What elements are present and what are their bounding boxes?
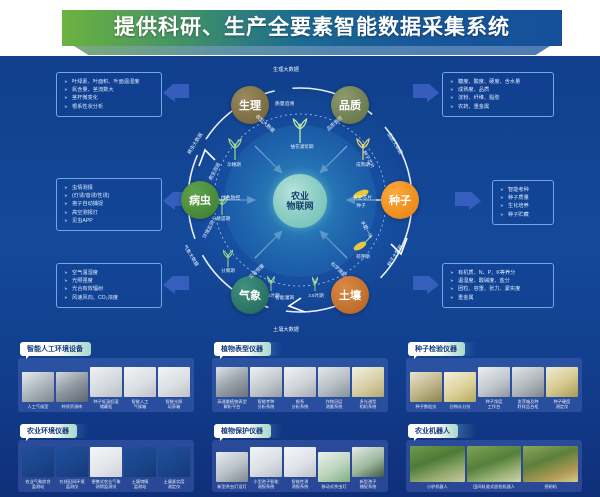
product-thumb — [56, 372, 88, 402]
stage-label-fayaqi: 萌芽期 — [345, 254, 381, 260]
plant-icon-fennie — [217, 244, 239, 268]
panel-item[interactable]: 授粉机 — [522, 446, 579, 489]
product-label: 人工气候室 — [22, 404, 54, 409]
product-thumb — [250, 367, 282, 397]
product-thumb — [467, 446, 522, 482]
infobox-item: 孢子自动捕捉 — [64, 200, 156, 208]
product-label: 多光谱型 相机系统 — [352, 399, 384, 409]
product-label: 授粉机 — [523, 484, 578, 489]
product-label: 智能性诱 测报系统 — [284, 479, 316, 489]
plant-icon-yangsui — [223, 136, 247, 160]
panel-item[interactable]: 种质资源库 — [55, 372, 89, 409]
infobox-item: 光合有效辐射 — [64, 285, 156, 293]
product-thumb — [56, 447, 88, 477]
stage-label-zhongzi: 种子 — [345, 203, 377, 209]
arrow-right-seed — [455, 192, 481, 210]
node-label: 生理 — [239, 97, 261, 113]
panel-item[interactable]: 根系 分析系统 — [283, 367, 317, 409]
inner-label-green-control: 绿色防控 — [221, 194, 240, 201]
panel-agri-robot: 农业机器人 小驴机器人 田间轨道式巡检机器人 授粉机 — [400, 424, 588, 494]
infobox-item: 种子贮藏 — [500, 211, 548, 219]
product-label: 种子净度 工作台 — [478, 399, 510, 409]
inner-label-smart-irrigation: 智能灌溉 — [275, 294, 294, 301]
product-label: 发芽箱及种 籽样品台柜 — [512, 399, 544, 409]
core-label: 农业物联网 — [286, 191, 313, 211]
product-label: 种子数粒仪 — [410, 404, 442, 409]
product-label: 移动式杀虫灯 — [318, 484, 350, 489]
product-label: 高通量植物表型 解析平台 — [216, 399, 248, 409]
node-zhongzi[interactable]: 种子 — [381, 181, 419, 219]
product-label: 土壤墒情 监测站 — [124, 479, 156, 489]
product-label: 小驴机器人 — [410, 484, 465, 489]
product-thumb — [284, 367, 316, 397]
panel-item[interactable]: 高通量植物表型 解析平台 — [215, 367, 249, 409]
product-label: 新型孢子 捕捉系统 — [352, 479, 384, 489]
product-label: 种子低温低湿 储藏柜 — [90, 399, 122, 409]
panel-item[interactable]: 土壤紧实度 测定仪 — [157, 447, 191, 489]
product-thumb — [90, 367, 122, 397]
infobox-item: 茎杆微变化 — [64, 94, 156, 102]
panel-item[interactable]: 种子净度 工作台 — [477, 367, 511, 409]
infobox-item: 生化培养 — [500, 202, 548, 210]
product-thumb — [352, 447, 384, 477]
product-thumb — [124, 447, 156, 477]
product-label: 智能光照 培养箱 — [158, 399, 190, 409]
panel-item[interactable]: 田间轨道式巡检机器人 — [466, 446, 523, 489]
panel-item[interactable]: 智能光照 培养箱 — [157, 367, 191, 409]
product-thumb — [546, 367, 578, 397]
infobox-item: 空气温湿度 — [64, 269, 156, 277]
node-label: 土壤 — [339, 287, 361, 303]
panel-item[interactable]: 种子低温低湿 储藏柜 — [89, 367, 123, 409]
infobox-item: 氮含量、茎流数大 — [64, 86, 156, 94]
product-thumb — [216, 367, 248, 397]
infobox-item: 虫情测报 — [64, 184, 156, 192]
node-label: 种子 — [389, 192, 411, 208]
infobox-item: 有机质、N、P、K等养分 — [450, 269, 548, 277]
product-thumb — [158, 367, 190, 397]
panel-item[interactable]: 移动式杀虫灯 — [317, 452, 351, 489]
panel-item[interactable]: 小驴机器人 — [409, 446, 466, 489]
panel-title-plant-phenotype: 植物表型仪器 — [214, 342, 271, 356]
node-bingchong[interactable]: 病虫 — [181, 181, 219, 219]
node-label: 品质 — [339, 97, 361, 113]
product-thumb — [410, 446, 465, 482]
product-label: 小型孢子智能 测报系统 — [250, 479, 282, 489]
infobox-item: 高空测报灯 — [64, 209, 156, 217]
panel-title-seed-inspection: 种子检验仪器 — [408, 342, 465, 356]
product-label: 在线田间环境 监测仪 — [56, 479, 88, 489]
panel-item[interactable]: 作物冠层 测量系统 — [317, 367, 351, 409]
product-thumb — [216, 452, 248, 482]
panel-body: 种子数粒仪 谷物水分仪 种子净度 工作台 发芽箱及种 籽样品台柜 种子硬度 测定… — [406, 358, 582, 412]
product-thumb — [318, 367, 350, 397]
node-turang[interactable]: 土壤 — [331, 276, 369, 314]
panel-item[interactable]: 智能性诱 测报系统 — [283, 447, 317, 489]
product-label: 土壤紧实度 测定仪 — [158, 479, 190, 489]
infobox-item: 糖度、酸度、硬度、含水量 — [450, 78, 548, 86]
panel-title-agri-robot: 农业机器人 — [408, 424, 458, 438]
panel-item[interactable]: 小型孢子智能 测报系统 — [249, 447, 283, 489]
ring-label-top: 生理大数据 — [273, 66, 299, 73]
panel-body: 高通量植物表型 解析平台 智能考种 分析系统 根系 分析系统 作物冠层 测量系统… — [212, 358, 388, 412]
infobox-item: 根系性状分析 — [64, 103, 156, 111]
panel-body: 小驴机器人 田间轨道式巡检机器人 授粉机 — [406, 440, 582, 492]
product-label: 农业气象综合 监测站 — [22, 479, 54, 489]
infobox-item: 团粒、容重、张力、紧实度 — [450, 285, 548, 293]
product-thumb — [22, 372, 54, 402]
panel-smart-env: 智能人工环境设备 人工气候室 种质资源库 种子低温低湿 储藏柜 智能人工 气候箱… — [12, 342, 200, 414]
panel-body: 农业气象综合 监测站 在线田间环境 监测仪 便携式农业气象 测得监测仪 土壤墒情… — [18, 440, 194, 492]
panel-title-agri-env: 农业环境仪器 — [20, 424, 77, 438]
product-label: 种子硬度 测定仪 — [546, 399, 578, 409]
stage-label-chouhua: 抽花灌浆期 — [275, 144, 329, 150]
product-label: 根系 分析系统 — [284, 399, 316, 409]
product-thumb — [478, 367, 510, 397]
product-thumb — [410, 372, 442, 402]
infobox-item: 种子质量 — [500, 194, 548, 202]
infobox-item: 温湿度、酸碱度、盐分 — [450, 277, 548, 285]
panel-body: 新型杀虫灯设灯 小型孢子智能 测报系统 智能性诱 测报系统 移动式杀虫灯 新型孢… — [212, 440, 388, 492]
panel-item[interactable]: 发芽箱及种 籽样品台柜 — [511, 367, 545, 409]
panel-agri-env: 农业环境仪器 农业气象综合 监测站 在线田间环境 监测仪 便携式农业气象 测得监… — [12, 424, 200, 494]
diagram-core: 农业物联网 — [273, 174, 327, 228]
panel-item[interactable]: 种子数粒仪 — [409, 372, 443, 409]
node-label: 气象 — [239, 287, 261, 303]
panel-item[interactable]: 新型孢子 捕捉系统 — [351, 447, 385, 489]
product-label: 作物冠层 测量系统 — [318, 399, 350, 409]
panel-title-plant-protection: 植物保护仪器 — [214, 424, 271, 438]
infobox-item: 风速风向、CO₂浓度 — [64, 294, 156, 302]
panel-item[interactable]: 种子硬度 测定仪 — [545, 367, 579, 409]
infobox-weather: 空气温湿度 光照强度 光合有效辐射 风速风向、CO₂浓度 — [56, 263, 162, 308]
product-label: 谷物水分仪 — [444, 404, 476, 409]
infobox-item: 农药、重金属 — [450, 103, 548, 111]
product-thumb — [523, 446, 578, 482]
panel-item[interactable]: 在线田间环境 监测仪 — [55, 447, 89, 489]
product-label: 便携式农业气象 测得监测仪 — [90, 479, 122, 489]
header-banner-shadow — [74, 46, 550, 55]
infobox-soil: 有机质、N、P、K等养分 温湿度、酸碱度、盐分 团粒、容重、张力、紧实度 重金属 — [442, 263, 554, 308]
ring-label-bottom: 土壤大数据 — [273, 326, 299, 333]
panel-title-smart-env: 智能人工环境设备 — [20, 342, 91, 356]
infobox-pest: 虫情测报 (灯诱/音诱/性诱) 孢子自动捕捉 高空测报灯 见虫APP — [56, 178, 162, 231]
product-thumb — [512, 367, 544, 397]
inner-label-quality-trace: 质量追溯 — [275, 100, 294, 107]
plant-icon-leaf35 — [305, 270, 325, 292]
product-label: 田间轨道式巡检机器人 — [467, 484, 522, 489]
product-label: 种质资源库 — [56, 404, 88, 409]
infobox-seed: 智能考种 种子质量 生化培养 种子贮藏 — [492, 180, 554, 225]
infobox-quality: 糖度、酸度、硬度、含水量 成熟度、品质 淀粉、纤维、脂肪 农药、重金属 — [442, 72, 554, 117]
infobox-item: 叶绿素、叶面积、叶面温湿度 — [64, 78, 156, 86]
node-label: 病虫 — [189, 192, 211, 208]
panel-item[interactable]: 智能人工 气候箱 — [123, 367, 157, 409]
infobox-item: 见虫APP — [64, 217, 156, 225]
panel-seed-inspection: 种子检验仪器 种子数粒仪 谷物水分仪 种子净度 工作台 发芽箱及种 籽样品台柜 … — [400, 342, 588, 414]
panel-item[interactable]: 人工气候室 — [21, 372, 55, 409]
stage-label-chengshu: 成熟期 — [341, 162, 385, 168]
panel-item[interactable]: 新型杀虫灯设灯 — [215, 452, 249, 489]
panel-plant-phenotype: 植物表型仪器 高通量植物表型 解析平台 智能考种 分析系统 根系 分析系统 作物… — [206, 342, 394, 414]
infobox-item: 智能考种 — [500, 186, 548, 194]
product-label: 新型杀虫灯设灯 — [216, 484, 248, 489]
product-thumb — [352, 367, 384, 397]
inner-label-agri-chip: 农业芯片 — [353, 194, 372, 201]
stage-label-fennie: 分蘖期 — [207, 268, 249, 274]
panel-body: 人工气候室 种质资源库 种子低温低湿 储藏柜 智能人工 气候箱 智能光照 培养箱 — [18, 358, 194, 412]
panel-item[interactable]: 谷物水分仪 — [443, 372, 477, 409]
panel-plant-protection: 植物保护仪器 新型杀虫灯设灯 小型孢子智能 测报系统 智能性诱 测报系统 移动式… — [206, 424, 394, 494]
poster-root: 提供科研、生产全要素智能数据采集系统 叶绿素、叶面积、叶面温湿度 氮含量、茎流数… — [0, 0, 600, 497]
panel-item[interactable]: 便携式农业气象 测得监测仪 — [89, 447, 123, 489]
product-label: 智能考种 分析系统 — [250, 399, 282, 409]
product-thumb — [284, 447, 316, 477]
product-label: 智能人工 气候箱 — [124, 399, 156, 409]
product-thumb — [318, 452, 350, 482]
infobox-subitem: (灯诱/音诱/性诱) — [64, 192, 156, 200]
panel-item[interactable]: 多光谱型 相机系统 — [351, 367, 385, 409]
product-thumb — [250, 447, 282, 477]
product-thumb — [124, 367, 156, 397]
product-thumb — [158, 447, 190, 477]
page-title: 提供科研、生产全要素智能数据采集系统 — [62, 10, 562, 46]
infobox-item: 光照强度 — [64, 277, 156, 285]
panel-item[interactable]: 农业气象综合 监测站 — [21, 447, 55, 489]
infobox-physiology: 叶绿素、叶面积、叶面温湿度 氮含量、茎流数大 茎杆微变化 根系性状分析 — [56, 72, 162, 117]
product-thumb — [90, 447, 122, 477]
node-qixiang[interactable]: 气象 — [231, 276, 269, 314]
panel-item[interactable]: 土壤墒情 监测站 — [123, 447, 157, 489]
product-thumb — [22, 447, 54, 477]
plant-icon-chouhua — [287, 116, 313, 144]
center-diagram: 孕穗期 抽花灌浆期 成熟期 分蘖盛期 分蘖期 4.5叶期 3.5叶期 种子 萌芽… — [155, 58, 445, 343]
infobox-item: 淀粉、纤维、脂肪 — [450, 94, 548, 102]
infobox-item: 重金属 — [450, 294, 548, 302]
infobox-item: 成熟度、品质 — [450, 86, 548, 94]
product-thumb — [444, 372, 476, 402]
panel-item[interactable]: 智能考种 分析系统 — [249, 367, 283, 409]
